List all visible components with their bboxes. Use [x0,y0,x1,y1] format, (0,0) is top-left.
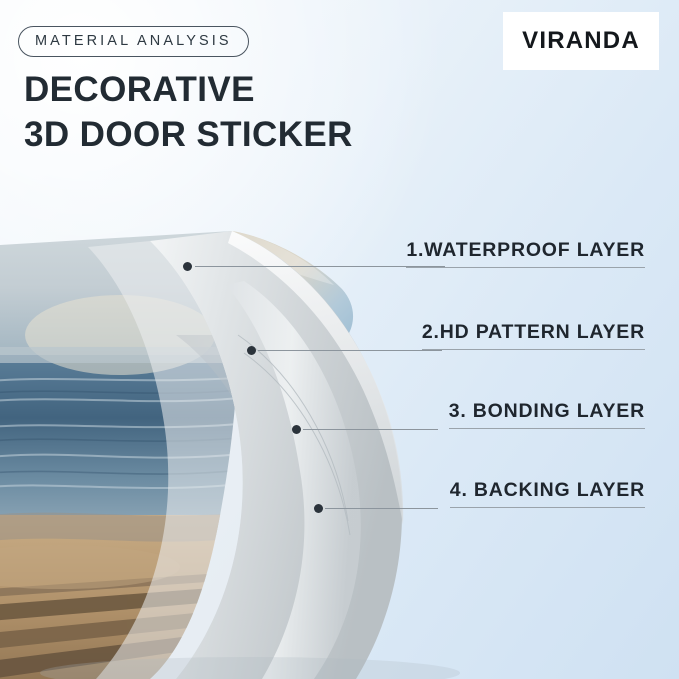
leader-line-3 [303,429,438,430]
callout-hd-pattern-layer: 2.HD PATTERN LAYER [422,321,645,350]
brand-name: VIRANDA [522,27,640,55]
title-line-1: DECORATIVE [24,70,255,109]
leader-dot-3 [292,425,301,434]
callout-bonding-layer: 3. BONDING LAYER [449,400,645,429]
leader-dot-1 [183,262,192,271]
leader-dot-4 [314,504,323,513]
callout-backing-layer: 4. BACKING LAYER [450,479,645,508]
page-title: DECORATIVE 3D DOOR STICKER [24,68,353,158]
callout-waterproof-layer: 1.WATERPROOF LAYER [406,239,645,268]
leader-line-4 [325,508,438,509]
leader-dot-2 [247,346,256,355]
poster-canvas: MATERIAL ANALYSIS DECORATIVE 3D DOOR STI… [0,0,679,679]
brand-logo-box: VIRANDA [503,12,659,70]
title-line-2: 3D DOOR STICKER [24,113,353,158]
leader-line-2 [258,350,442,351]
eyebrow-badge: MATERIAL ANALYSIS [18,26,249,57]
